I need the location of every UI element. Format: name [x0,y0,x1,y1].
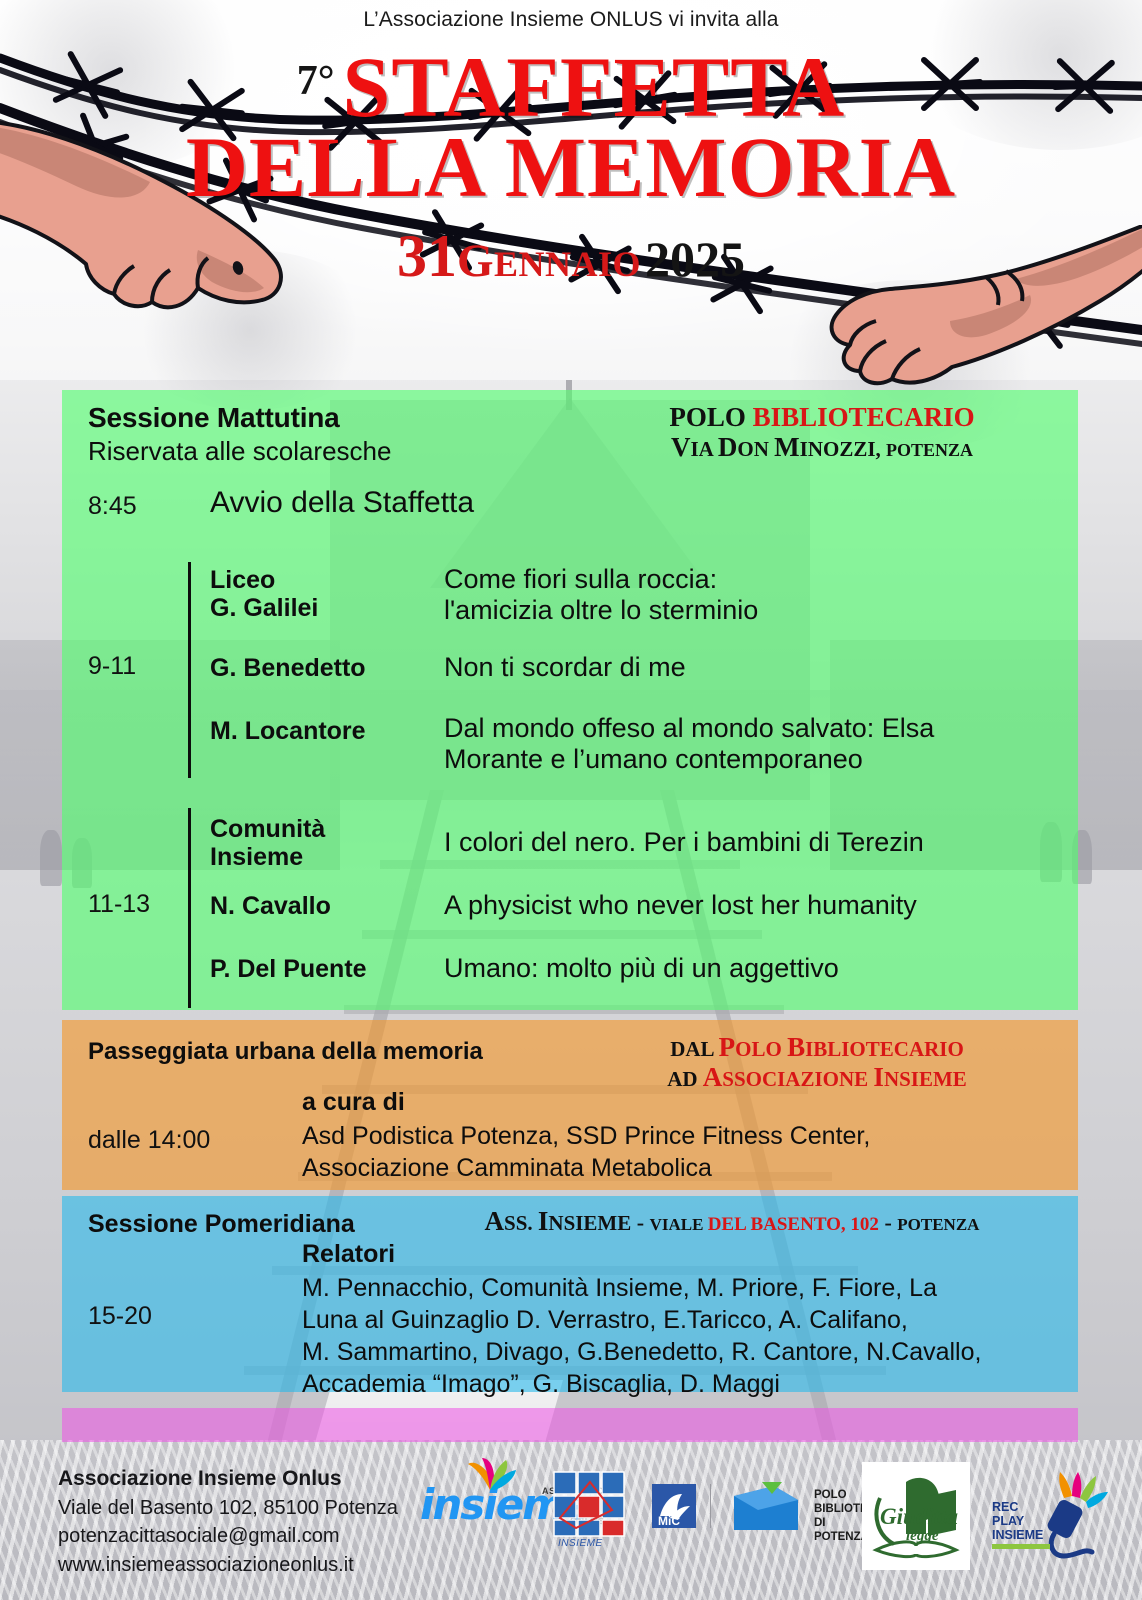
group-time-11-13: 11-13 [88,890,150,919]
title-line-2: DELLA MEMORIA [0,124,1142,212]
venue-address: DEL BASENTO, 102 [708,1214,879,1235]
speakers-line-2: M. Sammartino, Divago, G.Benedetto, R. C… [302,1336,981,1369]
date-month: GENNAIO [457,235,641,287]
walk-curators-line-1: Asd Podistica Potenza, SSD Prince Fitnes… [302,1120,870,1153]
polo-line-3: DI POTENZA [814,1516,869,1545]
speakers-line-3: Accademia “Imago”, G. Biscaglia, D. Magg… [302,1368,780,1401]
morning-heading: Sessione Mattutina [88,402,340,434]
group-0-row-0-org: Liceo G. Galilei [210,566,318,622]
poster-root: L’Associazione Insieme ONLUS vi invita a… [0,0,1142,1600]
group-time-9-11: 9-11 [88,652,136,681]
title-words-della-memoria: DELLA MEMORIA [186,119,956,215]
venue-potenza: POTENZA [897,1215,979,1234]
rec-line-3: INSIEME [992,1528,1043,1542]
speakers-label: Relatori [302,1240,395,1269]
pink-accent-strip [62,1408,1078,1442]
afternoon-venue: ASS. INSIEME - VIALE DEL BASENTO, 102 - … [402,1206,1062,1236]
walk-route: DAL POLO BIBLIOTECARIO AD ASSOCIAZIONE I… [582,1032,1052,1092]
contact-email[interactable]: potenzacittasociale@gmail.com [58,1522,398,1550]
venue-dash-1: - [631,1210,649,1235]
rec-line-1: REC [992,1500,1018,1514]
afternoon-heading: Sessione Pomeridiana [88,1210,355,1239]
group-1-row-2-title: Umano: molto più di un aggettivo [444,953,839,984]
group-1-row-1-title: A physicist who never lost her humanity [444,890,917,921]
date-month-cap: G [457,235,494,287]
insieme-fan-icon [464,1458,516,1490]
morning-venue: POLO BIBLIOTECARIO VIA DON MINOZZI, POTE… [582,402,1062,462]
group-1-row-0-title: I colori del nero. Per i bambini di Tere… [444,827,924,858]
venue-polo: POLO [669,402,752,432]
logo-polo-bibliotecario-di-potenza: POLO BIBLIOTECARIO DI POTENZA [728,1482,806,1537]
walk-route-line-1: DAL POLO BIBLIOTECARIO [582,1032,1052,1062]
event-date: 31GENNAIO2025 [0,226,1142,286]
puzzle-caption: INSIEME [558,1538,603,1549]
group-0-row-1-title: Non ti scordar di me [444,652,686,683]
legge-wordmark: legge [906,1528,938,1545]
venue-dash-2: - [879,1210,897,1235]
venue-inozzi: INOZZI, [800,437,886,461]
venue-potenza: POTENZA [886,440,973,460]
walk-time: dalle 14:00 [88,1126,210,1155]
date-year: 2025 [645,231,745,287]
venue-viale: VIALE [650,1215,708,1234]
morning-session-panel: Sessione Mattutina Riservata alle scolar… [62,390,1078,1010]
logo-mic-ministero-cultura: MiC [652,1484,696,1533]
title-line-1: 7°STAFFETTA [0,44,1142,130]
group-divider-rule [188,562,191,778]
date-day: 31 [397,223,457,289]
morning-subheading: Riservata alle scolaresche [88,436,391,467]
morning-opening-time: 8:45 [88,492,137,521]
edition-ordinal: 7° [297,58,335,104]
route-b: B [787,1032,805,1062]
polo-bibliotecario-book-icon [728,1482,806,1532]
route-olo: OLO [735,1037,787,1061]
venue-nsieme: NSIEME [548,1211,631,1235]
group-0-row-0-title: Come fiori sulla roccia: l'amicizia oltr… [444,564,758,626]
mic-caption: MiC [658,1514,680,1528]
walk-heading: Passeggiata urbana della memoria [88,1038,483,1066]
route-p: P [719,1032,736,1062]
partner-logos: insieme ASSOCIAZIONE ONLUS [420,1458,1130,1578]
background-figure [40,830,62,886]
footer: Associazione Insieme Onlus Viale del Bas… [0,1442,1142,1600]
speakers-line-1: Luna al Guinzaglio D. Verrastro, E.Taric… [302,1304,908,1337]
memory-walk-panel: Passeggiata urbana della memoria DAL POL… [62,1020,1078,1190]
venue-v: V [671,432,691,462]
group-1-row-0-org: Comunità Insieme [210,815,325,871]
afternoon-time: 15-20 [88,1302,152,1331]
group-1-row-1-org: N. Cavallo [210,892,331,920]
walk-curator-label: a cura di [302,1088,405,1117]
contact-block: Associazione Insieme Onlus Viale del Bas… [58,1464,398,1579]
route-nsieme: NSIEME [884,1067,967,1091]
invitation-line: L’Associazione Insieme ONLUS vi invita a… [0,8,1142,32]
venue-ss: SS. [504,1211,538,1235]
route-ibliotecario: IBLIOTECARIO [805,1037,964,1061]
logo-divider [710,1484,711,1528]
puzzle-pieces-icon [550,1468,628,1540]
polo-line-1: POLO [814,1488,847,1502]
venue-on: ON [737,437,774,461]
route-i: I [873,1062,884,1092]
poster-title-block: 7°STAFFETTA DELLA MEMORIA 31GENNAIO2025 [0,44,1142,286]
logo-insieme-puzzle: INSIEME [550,1468,628,1545]
group-divider-rule [188,808,191,1008]
venue-i: I [538,1206,549,1236]
giuditta-wordmark: Giuditta [880,1504,958,1530]
morning-venue-line-1: POLO BIBLIOTECARIO [582,402,1062,432]
route-ssociazione: SSOCIAZIONE [722,1067,873,1091]
group-0-row-2-org: M. Locantore [210,717,366,745]
route-dal: DAL [670,1037,718,1061]
venue-a: A [485,1206,505,1236]
speakers-line-0: M. Pennacchio, Comunità Insieme, M. Prio… [302,1272,937,1305]
venue-ia: IA [690,437,717,461]
rec-underline [992,1544,1050,1549]
venue-d: D [718,432,738,462]
route-ad: AD [667,1067,703,1091]
group-1-row-2-org: P. Del Puente [210,955,367,983]
walk-curators-line-2: Associazione Camminata Metabolica [302,1152,712,1185]
contact-address: Viale del Basento 102, 85100 Potenza [58,1494,398,1522]
rec-line-2: PLAY [992,1514,1024,1528]
venue-bibliotecario: BIBLIOTECARIO [753,402,975,432]
logo-giuditta-legge: Giuditta legge [862,1462,970,1570]
route-a: A [703,1062,723,1092]
group-0-row-2-title: Dal mondo offeso al mondo salvato: Elsa … [444,713,934,775]
venue-m: M [774,432,799,462]
walk-route-line-2: AD ASSOCIAZIONE INSIEME [582,1062,1052,1092]
contact-website[interactable]: www.insiemeassociazioneonlus.it [58,1551,398,1579]
contact-org-name: Associazione Insieme Onlus [58,1464,398,1494]
morning-opening-label: Avvio della Staffetta [210,486,474,520]
afternoon-session-panel: Sessione Pomeridiana ASS. INSIEME - VIAL… [62,1196,1078,1392]
morning-venue-line-2: VIA DON MINOZZI, POTENZA [582,432,1062,462]
logo-rec-play-insieme: REC PLAY INSIEME [992,1472,1110,1569]
date-month-rest: ENNAIO [494,244,641,284]
group-0-row-1-org: G. Benedetto [210,654,366,682]
